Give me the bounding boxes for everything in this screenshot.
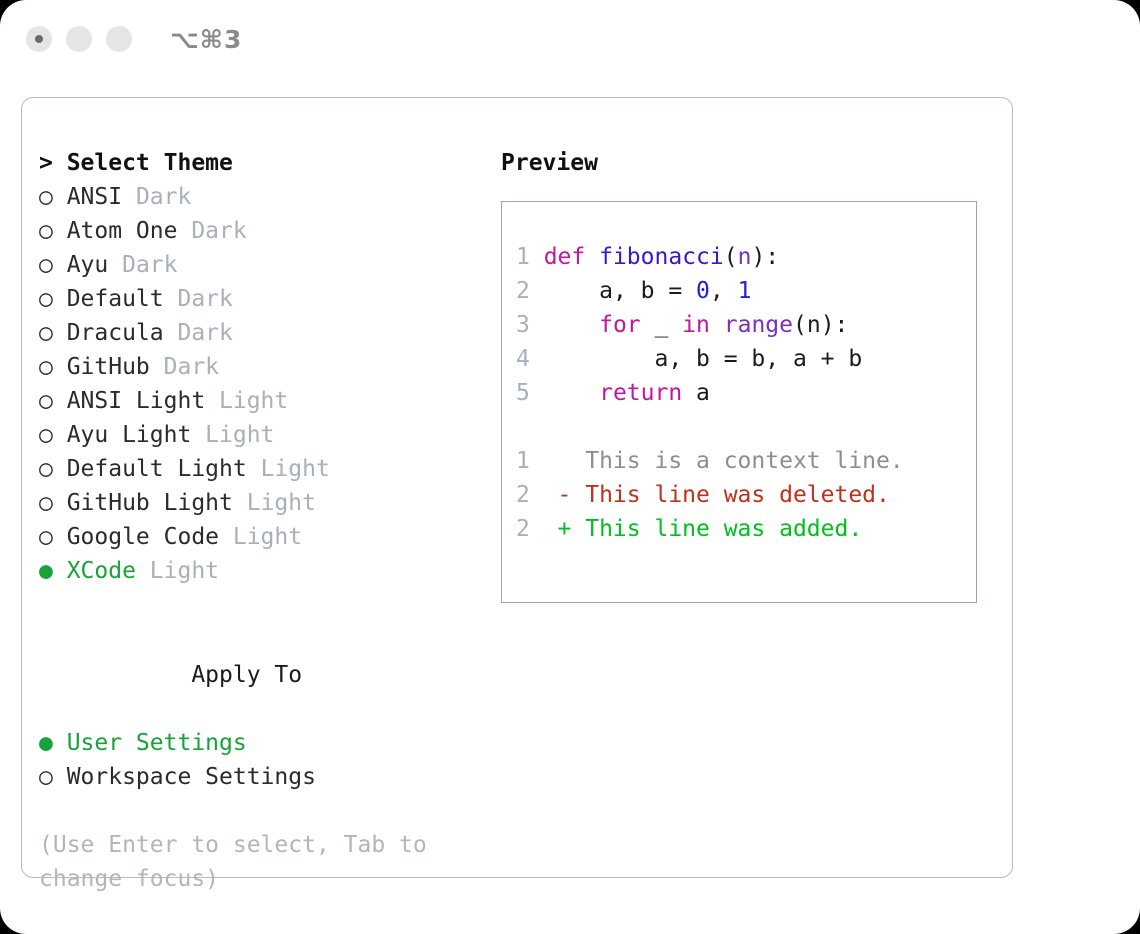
code-token: return [599, 380, 682, 406]
diff-marker: + [530, 516, 585, 542]
radio-unselected-icon[interactable]: ○ [39, 248, 53, 282]
theme-list-item[interactable]: ● XCode Light [39, 554, 492, 588]
keyboard-shortcut-label: ⌥⌘3 [170, 25, 242, 54]
theme-list[interactable]: ○ ANSI Dark○ Atom One Dark○ Ayu Dark○ De… [39, 180, 492, 588]
theme-list-item[interactable]: ○ Google Code Light [39, 520, 492, 554]
theme-kind: Light [150, 558, 219, 584]
code-token [544, 380, 599, 406]
apply-to-heading-label: Apply To [191, 662, 302, 688]
code-line: 3 for _ in range(n): [516, 308, 976, 342]
theme-name: GitHub [53, 354, 164, 380]
code-line: 1 def fibonacci(n): [516, 240, 976, 274]
code-token: ( [724, 244, 738, 270]
radio-unselected-icon[interactable]: ○ [39, 282, 53, 316]
code-line: 5 return a [516, 376, 976, 410]
theme-kind: Light [247, 490, 316, 516]
code-token: 0 [696, 278, 710, 304]
main-panel: > Select Theme ○ ANSI Dark○ Atom One Dar… [21, 97, 1013, 878]
theme-list-item[interactable]: ○ Default Dark [39, 282, 492, 316]
diff-marker: - [530, 482, 585, 508]
app-window: ⌥⌘3 > Select Theme ○ ANSI Dark○ Atom One… [0, 0, 1140, 934]
theme-name: Atom One [53, 218, 191, 244]
window-dot-active-inner [35, 35, 43, 43]
code-token: range [724, 312, 793, 338]
theme-list-item[interactable]: ○ Atom One Dark [39, 214, 492, 248]
radio-unselected-icon[interactable]: ○ [39, 384, 53, 418]
radio-selected-icon[interactable]: ● [39, 726, 53, 760]
code-token: ): [751, 244, 779, 270]
theme-name: GitHub Light [53, 490, 247, 516]
line-number: 5 [516, 376, 530, 410]
line-number: 3 [516, 308, 530, 342]
theme-list-item[interactable]: ○ GitHub Dark [39, 350, 492, 384]
diff-sample: 1 This is a context line.2 - This line w… [516, 444, 976, 546]
code-line: 4 a, b = b, a + b [516, 342, 976, 376]
title-bar: ⌥⌘3 [0, 0, 1140, 78]
code-gutter-space [530, 312, 544, 338]
theme-picker-column: > Select Theme ○ ANSI Dark○ Atom One Dar… [22, 98, 492, 877]
code-token: for [599, 312, 641, 338]
diff-line: 2 + This line was added. [516, 512, 976, 546]
window-dot-2[interactable] [66, 26, 92, 52]
theme-name: Ayu [53, 252, 122, 278]
code-token: in [682, 312, 710, 338]
window-dot-active[interactable] [26, 26, 52, 52]
preview-column: Preview 1 def fibonacci(n):2 a, b = 0, 1… [492, 98, 1012, 877]
line-number: 4 [516, 342, 530, 376]
code-token: a [682, 380, 710, 406]
radio-unselected-icon[interactable]: ○ [39, 520, 53, 554]
code-gutter-space [530, 380, 544, 406]
code-token [585, 244, 599, 270]
apply-to-indent [177, 658, 191, 692]
line-number: 1 [516, 240, 530, 274]
theme-name: Default [53, 286, 178, 312]
theme-list-item[interactable]: ○ GitHub Light Light [39, 486, 492, 520]
radio-unselected-icon[interactable]: ○ [39, 452, 53, 486]
theme-name: ANSI Light [53, 388, 219, 414]
code-token: fibonacci [599, 244, 724, 270]
code-gutter-space [530, 346, 544, 372]
theme-name: Dracula [53, 320, 178, 346]
theme-kind: Light [205, 422, 274, 448]
code-token: (n): [793, 312, 848, 338]
diff-line: 2 - This line was deleted. [516, 478, 976, 512]
code-gutter-space [530, 244, 544, 270]
preview-heading: Preview [501, 146, 1012, 180]
theme-kind: Dark [191, 218, 246, 244]
theme-name: Google Code [53, 524, 233, 550]
theme-kind: Dark [177, 320, 232, 346]
diff-text: This is a context line. [585, 448, 904, 474]
theme-kind: Light [261, 456, 330, 482]
window-dot-3[interactable] [106, 26, 132, 52]
theme-kind: Dark [122, 252, 177, 278]
code-token [710, 312, 724, 338]
theme-name: Default Light [53, 456, 261, 482]
line-number: 2 [516, 274, 530, 308]
code-sample: 1 def fibonacci(n):2 a, b = 0, 13 for _ … [516, 240, 976, 410]
code-token: n [738, 244, 752, 270]
radio-unselected-icon[interactable]: ○ [39, 486, 53, 520]
code-token: _ [641, 312, 683, 338]
diff-marker [530, 448, 585, 474]
line-number: 2 [516, 478, 530, 512]
code-token: def [544, 244, 586, 270]
apply-to-list[interactable]: ● User Settings○ Workspace Settings [39, 726, 492, 794]
line-number: 1 [516, 444, 530, 478]
theme-list-item[interactable]: ○ ANSI Light Light [39, 384, 492, 418]
apply-to-option[interactable]: ● User Settings [39, 726, 492, 760]
theme-list-item[interactable]: ○ ANSI Dark [39, 180, 492, 214]
panel-columns: > Select Theme ○ ANSI Dark○ Atom One Dar… [22, 98, 1012, 877]
apply-to-option[interactable]: ○ Workspace Settings [39, 760, 492, 794]
code-token: = [668, 278, 696, 304]
code-line: 2 a, b = 0, 1 [516, 274, 976, 308]
keyboard-hint: (Use Enter to select, Tab to change focu… [39, 828, 439, 896]
theme-list-item[interactable]: ○ Dracula Dark [39, 316, 492, 350]
code-token: 1 [738, 278, 752, 304]
theme-kind: Dark [164, 354, 219, 380]
diff-line: 1 This is a context line. [516, 444, 976, 478]
radio-unselected-icon[interactable]: ○ [39, 760, 53, 794]
line-number: 2 [516, 512, 530, 546]
theme-list-item[interactable]: ○ Default Light Light [39, 452, 492, 486]
theme-name: ANSI [53, 184, 136, 210]
preview-box: 1 def fibonacci(n):2 a, b = 0, 13 for _ … [501, 201, 977, 603]
theme-kind: Dark [136, 184, 191, 210]
theme-name: Ayu Light [53, 422, 205, 448]
radio-unselected-icon[interactable]: ○ [39, 180, 53, 214]
theme-kind: Light [219, 388, 288, 414]
radio-selected-icon[interactable]: ● [39, 554, 53, 588]
theme-kind: Dark [177, 286, 232, 312]
theme-name: XCode [53, 558, 150, 584]
apply-to-option-label: User Settings [53, 730, 247, 756]
radio-unselected-icon[interactable]: ○ [39, 316, 53, 350]
preview-spacer [516, 410, 976, 444]
theme-list-item[interactable]: ○ Ayu Light Light [39, 418, 492, 452]
code-token: a, b [544, 278, 669, 304]
theme-kind: Light [233, 524, 302, 550]
code-token: a, b = b, a + b [544, 346, 863, 372]
code-token: , [710, 278, 738, 304]
apply-to-heading: Apply To [39, 624, 492, 726]
apply-to-option-label: Workspace Settings [53, 764, 316, 790]
theme-list-item[interactable]: ○ Ayu Dark [39, 248, 492, 282]
code-token [544, 312, 599, 338]
radio-unselected-icon[interactable]: ○ [39, 350, 53, 384]
radio-unselected-icon[interactable]: ○ [39, 214, 53, 248]
code-gutter-space [530, 278, 544, 304]
diff-text: This line was deleted. [585, 482, 890, 508]
diff-text: This line was added. [585, 516, 862, 542]
select-theme-heading: > Select Theme [39, 146, 492, 180]
radio-unselected-icon[interactable]: ○ [39, 418, 53, 452]
